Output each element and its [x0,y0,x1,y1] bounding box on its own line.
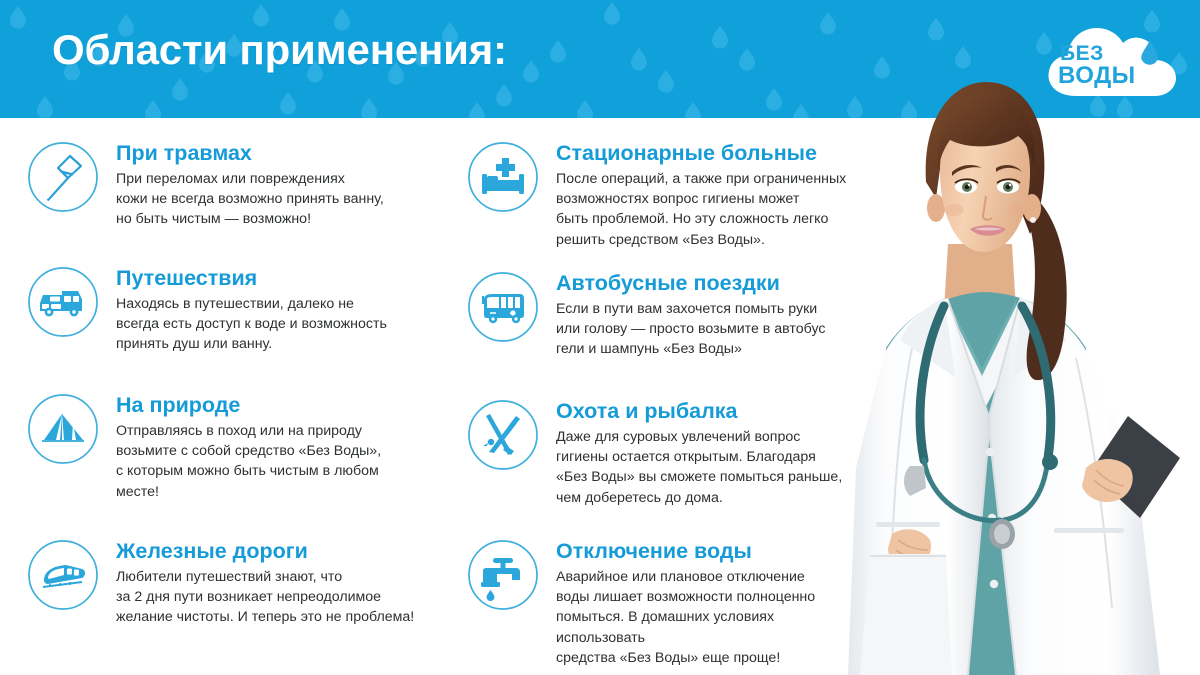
feature-description: Любители путешествий знают, что за 2 дня… [116,567,414,628]
cloud-shape-icon [1042,16,1188,104]
feature-description: Отправляясь в поход или на природу возьм… [116,421,381,503]
doctor-photo [840,48,1200,675]
feature-description: Аварийное или плановое отключение воды л… [556,567,866,669]
feature-description: При переломах или повреждениях кожи не в… [116,169,384,230]
hospital-bed-icon [466,140,540,214]
bus-icon [466,270,540,344]
feature-title: На природе [116,394,381,417]
rifle-fishing-rod-icon [466,398,540,472]
feature-item-injuries: При травмах При переломах или повреждени… [26,140,384,230]
train-icon [26,538,100,612]
feature-description: Находясь в путешествии, далеко не всегда… [116,294,387,355]
header-banner: Области применения: [0,0,1200,118]
page-title: Области применения: [52,26,507,74]
feature-title: Отключение воды [556,540,866,563]
feature-description: Даже для суровых увлечений вопрос гигиен… [556,427,842,509]
camper-van-icon [26,265,100,339]
feature-item-railways: Железные дороги Любители путешествий зна… [26,538,414,628]
feature-item-bus-trips: Автобусные поездки Если в пути вам захоч… [466,270,825,360]
feature-item-travel: Путешествия Находясь в путешествии, дале… [26,265,387,355]
feature-description: Если в пути вам захочется помыть руки ил… [556,299,825,360]
feature-title: Автобусные поездки [556,272,825,295]
feature-title: Путешествия [116,267,387,290]
crutch-icon [26,140,100,214]
feature-description: После операций, а также при ограниченных… [556,169,846,251]
brand-logo: БЕЗ ВОДЫ [1042,16,1188,104]
feature-item-hunting-fishing: Охота и рыбалка Даже для суровых увлечен… [466,398,842,508]
feature-item-outdoors: На природе Отправляясь в поход или на пр… [26,392,381,502]
feature-item-water-shutoff: Отключение воды Аварийное или плановое о… [466,538,866,669]
feature-item-inpatients: Стационарные больные После операций, а т… [466,140,846,250]
feature-title: Охота и рыбалка [556,400,842,423]
infographic-poster: Области применения: БЕЗ ВОДЫ [0,0,1200,675]
feature-title: Стационарные больные [556,142,846,165]
faucet-icon [466,538,540,612]
tent-icon [26,392,100,466]
feature-title: При травмах [116,142,384,165]
feature-title: Железные дороги [116,540,414,563]
